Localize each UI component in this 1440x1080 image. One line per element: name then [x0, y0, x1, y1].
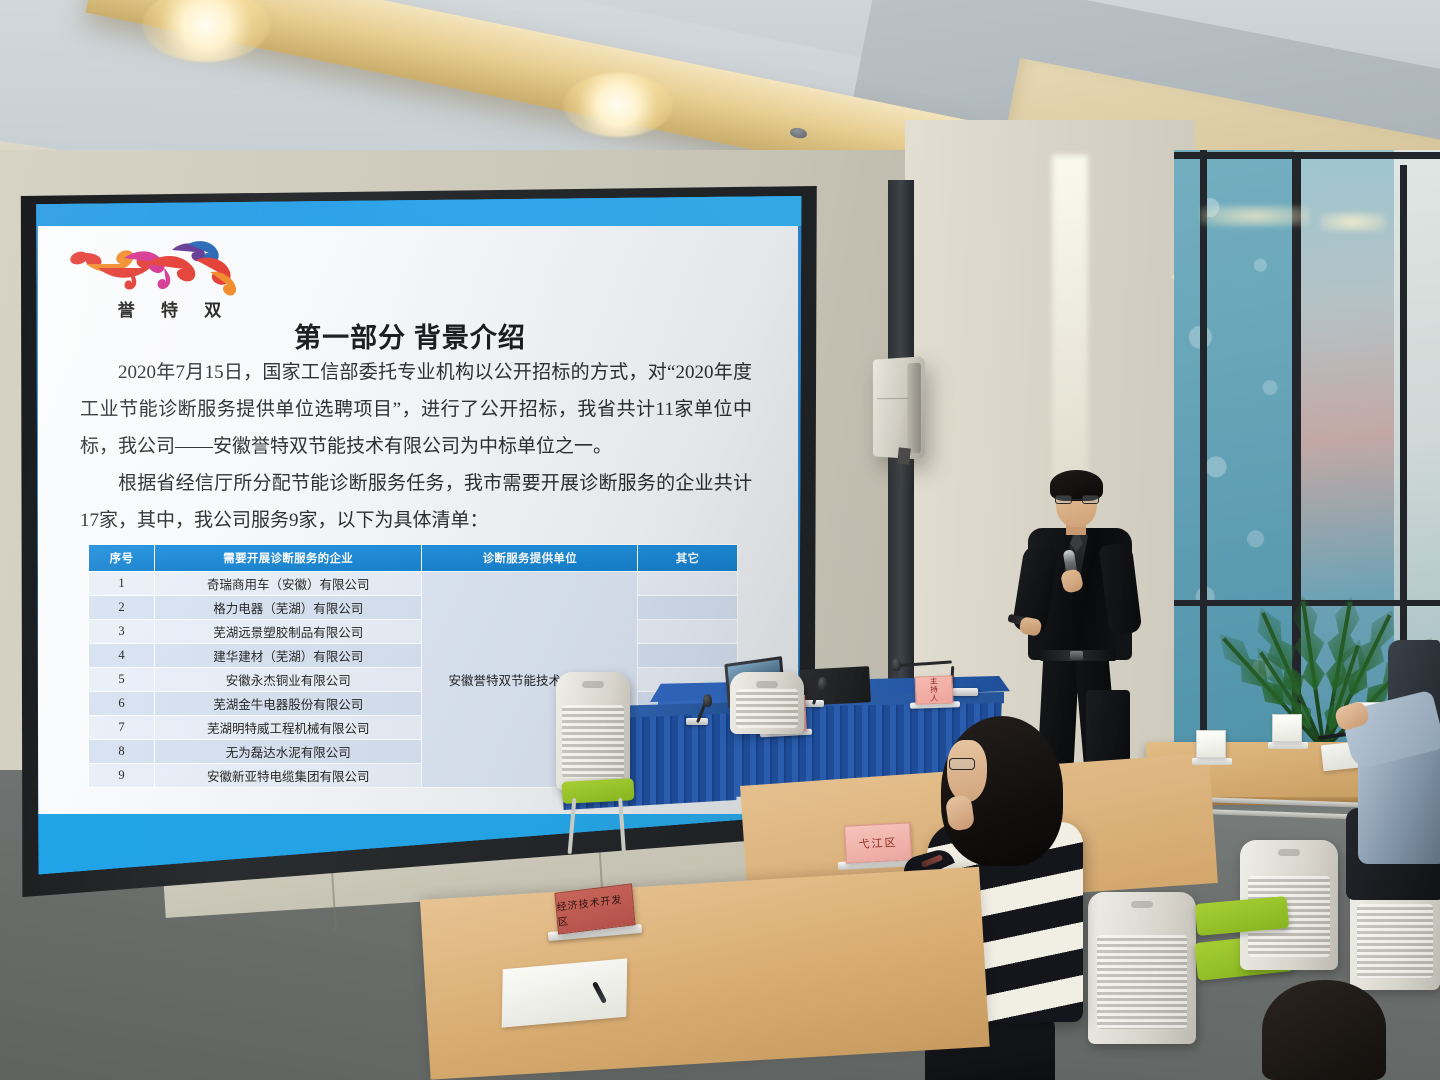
nameplate-base [1268, 742, 1308, 749]
nameplate-blank-1 [1196, 730, 1226, 758]
audience-person-foreground [1262, 980, 1440, 1080]
microphone-capsule-icon [818, 677, 827, 690]
cell-no: 7 [89, 716, 155, 740]
table-header-no: 序号 [89, 545, 155, 572]
chair-backrest [556, 672, 630, 790]
table-row: 1 奇瑞商用车（安徽）有限公司 安徽誉特双节能技术有限公司 [89, 572, 738, 596]
cell-enterprise: 安徽新亚特电缆集团有限公司 [154, 764, 422, 788]
cell-no: 5 [89, 668, 155, 692]
table-header-row: 序号 需要开展诊断服务的企业 诊断服务提供单位 其它 [89, 545, 738, 572]
table-header-enterprise: 需要开展诊断服务的企业 [154, 545, 422, 572]
slide-body-text: 2020年7月15日，国家工信部委托专业机构以公开招标的方式，对“2020年度工… [80, 354, 752, 539]
cell-no: 1 [89, 572, 155, 596]
cell-no: 3 [89, 620, 155, 644]
window-head-rail [1174, 152, 1440, 159]
speaker-bracket [897, 447, 911, 464]
audience-woman-face [947, 740, 987, 802]
table-row: 3 芜湖远景塑胶制品有限公司 [89, 620, 738, 644]
chair-back-ribs [736, 689, 798, 727]
paper-sheet [502, 958, 628, 1027]
eyeglasses-icon [949, 758, 975, 770]
table-header-provider: 诊断服务提供单位 [422, 545, 638, 572]
chair-back-ribs [1097, 935, 1188, 1029]
nameplate-blank-2 [1272, 714, 1302, 742]
nameplate-head-table-right: 主持人 [915, 675, 954, 704]
cell-no: 9 [89, 764, 155, 788]
cell-enterprise: 安徽永杰铜业有限公司 [154, 668, 422, 692]
table-row: 5 安徽永杰铜业有限公司 [89, 668, 738, 692]
table-row: 4 建华建材（芜湖）有限公司 [89, 644, 738, 668]
presenter-belt-buckle [1070, 651, 1083, 660]
chair-backrest [730, 672, 804, 734]
cell-no: 8 [89, 740, 155, 764]
cell-enterprise: 建华建材（芜湖）有限公司 [154, 644, 422, 668]
cell-other [638, 620, 738, 644]
microphone-capsule-icon [703, 694, 712, 707]
eyeglasses-icon [1055, 495, 1099, 504]
conference-room-scene: 誉 特 双 第一部分 背景介绍 2020年7月15日，国家工信部委托专业机构以公… [0, 0, 1440, 1080]
table-header-other: 其它 [638, 545, 738, 572]
table-row: 2 格力电器（芜湖）有限公司 [89, 596, 738, 620]
microphone-capsule-icon [892, 658, 901, 671]
reflected-light-glow [1200, 205, 1310, 227]
audience-hair [1262, 980, 1386, 1080]
cell-no: 2 [89, 596, 155, 620]
cell-no: 6 [89, 692, 155, 716]
nameplate-yijiang-district: 弋江区 [844, 822, 912, 863]
phoenix-dragon-logo-icon [68, 238, 248, 300]
slide-paragraph-2: 根据省经信厅所分配节能诊断服务任务，我市需要开展诊断服务的企业共计17家，其中，… [80, 465, 752, 539]
ceiling-downlight-icon [563, 73, 673, 137]
wall-speaker-icon [873, 356, 925, 460]
company-logo: 誉 特 双 [68, 238, 248, 324]
wall-light-strip [1052, 155, 1088, 500]
cell-enterprise: 芜湖金牛电器股份有限公司 [154, 692, 422, 716]
cell-other [638, 572, 738, 596]
cell-enterprise: 芜湖远景塑胶制品有限公司 [154, 620, 422, 644]
cell-enterprise: 芜湖明特威工程机械有限公司 [154, 716, 422, 740]
microphone-base [952, 688, 978, 696]
reflected-light-glow [1320, 212, 1386, 232]
cell-other [638, 596, 738, 620]
cell-no: 4 [89, 644, 155, 668]
cell-enterprise: 奇瑞商用车（安徽）有限公司 [154, 572, 422, 596]
slide-paragraph-1: 2020年7月15日，国家工信部委托专业机构以公开招标的方式，对“2020年度工… [80, 354, 752, 465]
cell-enterprise: 无为磊达水泥有限公司 [154, 740, 422, 764]
audience-person-light-blue-shirt [1336, 700, 1440, 900]
slide-title: 第一部分 背景介绍 [30, 316, 790, 355]
cell-other [638, 644, 738, 668]
cell-enterprise: 格力电器（芜湖）有限公司 [154, 596, 422, 620]
chair-back-ribs [1357, 904, 1433, 978]
nameplate-base [1192, 758, 1232, 765]
chair-back-ribs [562, 705, 624, 778]
